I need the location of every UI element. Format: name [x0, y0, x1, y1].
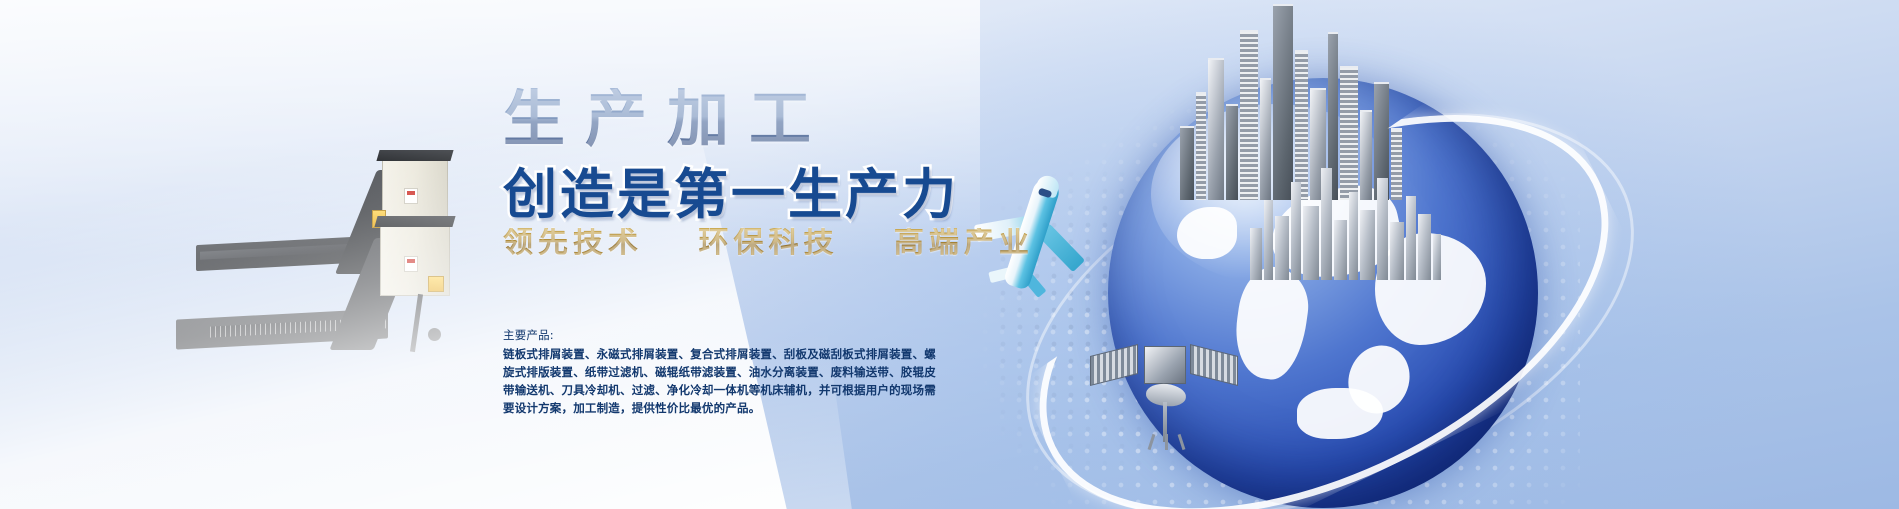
subheadline: 创造是第一生产力 [503, 168, 959, 222]
skyline-building [1208, 58, 1224, 200]
satellite-solar-panel-right [1190, 344, 1238, 386]
skyline-building [1226, 104, 1238, 200]
product-description-body: 链板式排屑装置、永磁式排屑装置、复合式排屑装置、刮板及磁刮板式排屑装置、螺旋式排… [503, 345, 943, 417]
city-skyline-inner-graphic [1250, 120, 1440, 280]
skyline-building [1433, 234, 1441, 280]
skyline-building [1360, 210, 1375, 280]
continent-shape [1177, 207, 1237, 259]
skyline-building [1275, 216, 1289, 280]
tagline-item-1: 领先技术 [503, 225, 643, 260]
label-red-band [407, 259, 415, 263]
skyline-building [1334, 220, 1347, 280]
skyline-building [1264, 200, 1273, 280]
skyline-building [1377, 178, 1388, 280]
tagline-item-2: 环保科技 [698, 225, 838, 260]
label-red-band [407, 191, 415, 195]
skyline-building [1196, 92, 1206, 200]
product-description: 主要产品: 链板式排屑装置、永磁式排屑装置、复合式排屑装置、刮板及磁刮板式排屑装… [503, 326, 943, 417]
continent-shape [1297, 388, 1383, 440]
skyline-building [1250, 228, 1262, 280]
chip-conveyor-machine [176, 218, 516, 388]
skyline-building [1321, 168, 1332, 280]
machine-hopper-lid [376, 150, 453, 161]
skyline-building [1303, 206, 1319, 280]
machine-hopper-lid [374, 216, 455, 227]
satellite-leg [1178, 434, 1186, 450]
skyline-building [1349, 192, 1358, 280]
skyline-building [1291, 182, 1301, 280]
skyline-building [1390, 222, 1404, 280]
satellite-solar-panel-left [1090, 344, 1138, 386]
machine-support-leg [410, 294, 423, 352]
machine-warning-label [404, 256, 418, 272]
promo-banner: 生产加工 创造是第一生产力 领先技术 环保科技 高端产业 主要产品: 链板式排屑… [0, 0, 1899, 509]
skyline-building [1406, 196, 1416, 280]
tagline-item-3: 高端产业 [894, 225, 1034, 260]
satellite-icon [1090, 328, 1240, 448]
machine-control-box [428, 276, 444, 292]
satellite-leg [1148, 434, 1156, 450]
page-title: 生产加工 [503, 88, 831, 150]
satellite-leg [1165, 434, 1168, 450]
skyline-building [1418, 214, 1431, 280]
skyline-building [1180, 126, 1194, 200]
machine-warning-label [404, 188, 418, 204]
tagline-row: 领先技术 环保科技 高端产业 [503, 228, 1034, 258]
machine-wheel [428, 328, 441, 341]
product-description-title: 主要产品: [503, 326, 943, 344]
satellite-body [1144, 346, 1186, 384]
